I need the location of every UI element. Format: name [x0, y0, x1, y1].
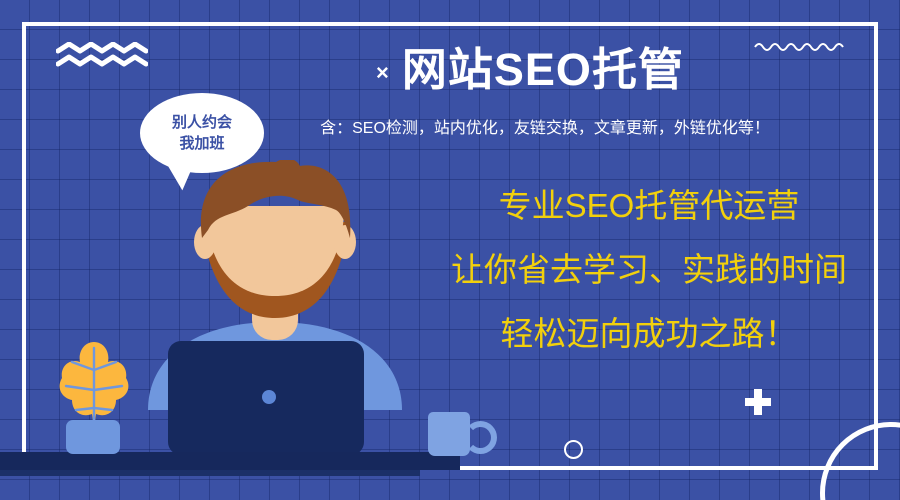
plant-pot: [66, 420, 120, 454]
mouth-shape: [241, 266, 309, 286]
coffee-mug-handle: [464, 421, 497, 454]
ear-right-shape: [334, 225, 356, 259]
slogan-line: 让你省去学习、实践的时间: [418, 252, 880, 288]
desk-edge: [0, 470, 420, 476]
slogan-list: 专业SEO托管代运营 让你省去学习、实践的时间 轻松迈向成功之路！: [418, 188, 880, 352]
page-title: ×网站SEO托管: [300, 44, 760, 99]
slogan-line: 专业SEO托管代运营: [418, 188, 880, 224]
speech-bubble-line-1: 别人约会: [172, 112, 232, 133]
small-circle-icon: [564, 440, 583, 459]
wavy-line-icon: [754, 40, 844, 54]
speech-bubble-line-2: 我加班: [179, 133, 224, 154]
zigzag-lines-icon: [56, 42, 148, 68]
seo-promo-banner: ×网站SEO托管 含：SEO检测，站内优化，友链交换，文章更新，外链优化等！ 专…: [0, 0, 900, 500]
laptop-logo-dot-icon: [262, 390, 276, 404]
plus-mark-icon: [745, 389, 771, 415]
title-marker-icon: ×: [376, 60, 390, 85]
title-text: 网站SEO托管: [402, 44, 684, 95]
desk-surface: [0, 452, 460, 470]
headline-block: ×网站SEO托管: [300, 44, 760, 99]
slogan-line: 轻松迈向成功之路！: [418, 316, 880, 352]
subtitle-text: 含：SEO检测，站内优化，友链交换，文章更新，外链优化等！: [200, 118, 890, 140]
potted-plant-leaf: [52, 340, 136, 432]
